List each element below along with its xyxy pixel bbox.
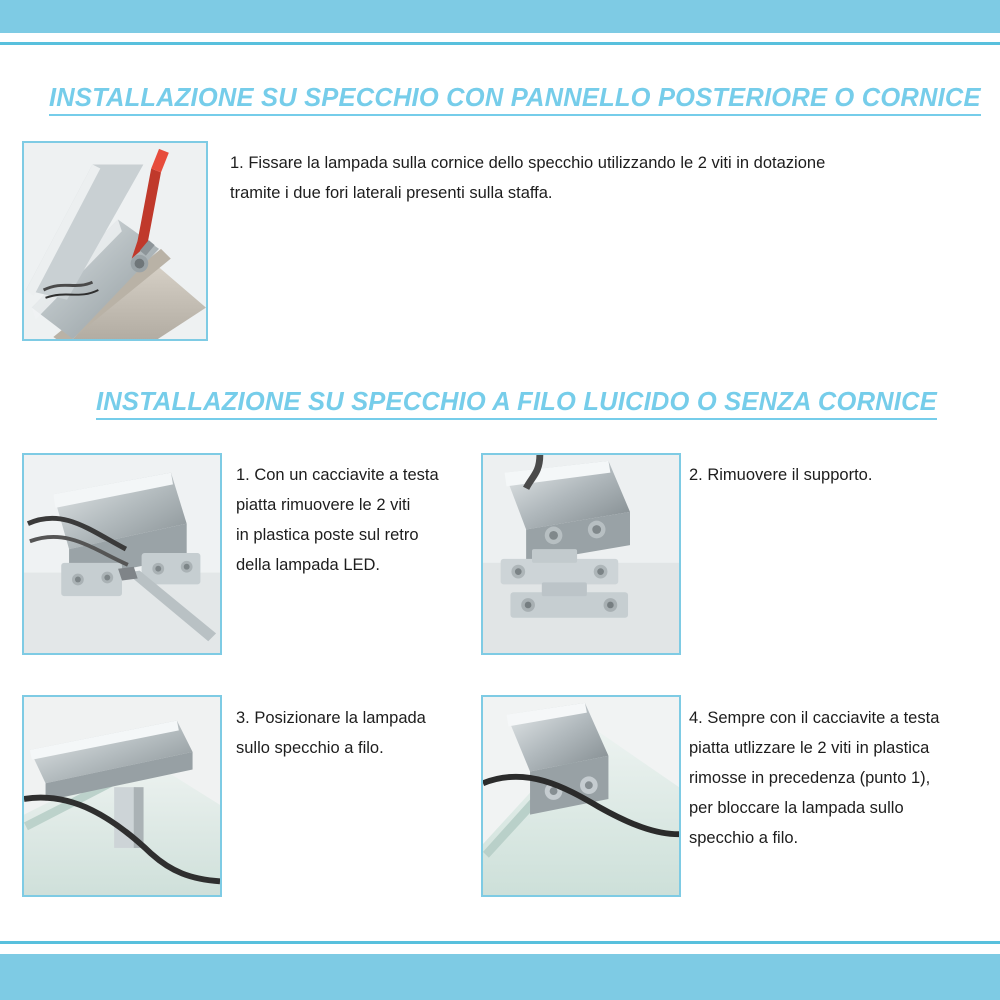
step-5-text: 4. Sempre con il cacciavite a testa piat… — [689, 703, 989, 853]
photo-step-2 — [22, 453, 222, 655]
top-band — [0, 0, 1000, 33]
step-1-text: 1. Fissare la lampada sulla cornice dell… — [230, 148, 960, 208]
section-title-1-text: INSTALLAZIONE SU SPECCHIO CON PANNELLO P… — [49, 84, 981, 112]
photo-step-3 — [481, 453, 681, 655]
photo-step-4 — [22, 695, 222, 897]
section-title-1: INSTALLAZIONE SU SPECCHIO CON PANNELLO P… — [49, 84, 981, 116]
photo-step-5 — [481, 695, 681, 897]
step-3-text: 2. Rimuovere il supporto. — [689, 460, 979, 490]
bottom-accent-line — [0, 941, 1000, 944]
section-title-1-underline — [49, 114, 981, 116]
step-2-text: 1. Con un cacciavite a testa piatta rimu… — [236, 460, 466, 580]
section-title-2-text: INSTALLAZIONE SU SPECCHIO A FILO LUICIDO… — [96, 388, 937, 416]
section-title-2-underline — [96, 418, 937, 420]
step-4-text: 3. Posizionare la lampada sullo specchio… — [236, 703, 466, 763]
bottom-band — [0, 954, 1000, 1000]
top-accent-line — [0, 42, 1000, 45]
section-title-2: INSTALLAZIONE SU SPECCHIO A FILO LUICIDO… — [96, 388, 937, 420]
photo-step-1 — [22, 141, 208, 341]
instruction-page: INSTALLAZIONE SU SPECCHIO CON PANNELLO P… — [0, 0, 1000, 1000]
